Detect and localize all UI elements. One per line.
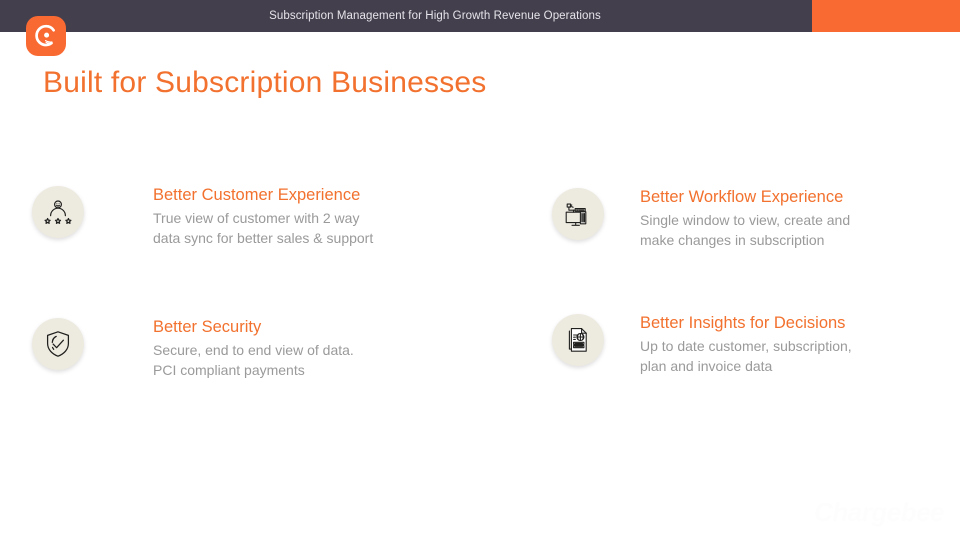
workflow-monitor-icon (552, 188, 604, 240)
slide-canvas: Subscription Management for High Growth … (0, 0, 960, 540)
feature-item: Better Customer Experience True view of … (32, 186, 373, 248)
page-title: Built for Subscription Businesses (43, 66, 486, 100)
feature-title: Better Insights for Decisions (640, 314, 852, 333)
feature-item: Better Insights for Decisions Up to date… (552, 314, 852, 376)
feature-text-block: Better Customer Experience True view of … (153, 186, 373, 248)
watermark-text: Chargebee (814, 497, 944, 528)
feature-title: Better Security (153, 318, 354, 337)
feature-title: Better Workflow Experience (640, 188, 850, 207)
header-bar: Subscription Management for High Growth … (0, 0, 960, 32)
feature-description: True view of customer with 2 way data sy… (153, 208, 373, 248)
shield-check-icon (32, 318, 84, 370)
feature-description: Secure, end to end view of data. PCI com… (153, 340, 354, 380)
feature-item: Better Workflow Experience Single window… (552, 188, 850, 250)
feature-description: Single window to view, create and make c… (640, 210, 850, 250)
document-chart-icon (552, 314, 604, 366)
header-title: Subscription Management for High Growth … (0, 0, 812, 32)
chargebee-c-logo-icon (26, 16, 66, 56)
feature-text-block: Better Insights for Decisions Up to date… (640, 314, 852, 376)
header-accent-band (812, 0, 960, 32)
feature-text-block: Better Workflow Experience Single window… (640, 188, 850, 250)
customer-stars-icon (32, 186, 84, 238)
feature-item: Better Security Secure, end to end view … (32, 318, 354, 380)
feature-title: Better Customer Experience (153, 186, 373, 205)
feature-text-block: Better Security Secure, end to end view … (153, 318, 354, 380)
feature-description: Up to date customer, subscription, plan … (640, 336, 852, 376)
